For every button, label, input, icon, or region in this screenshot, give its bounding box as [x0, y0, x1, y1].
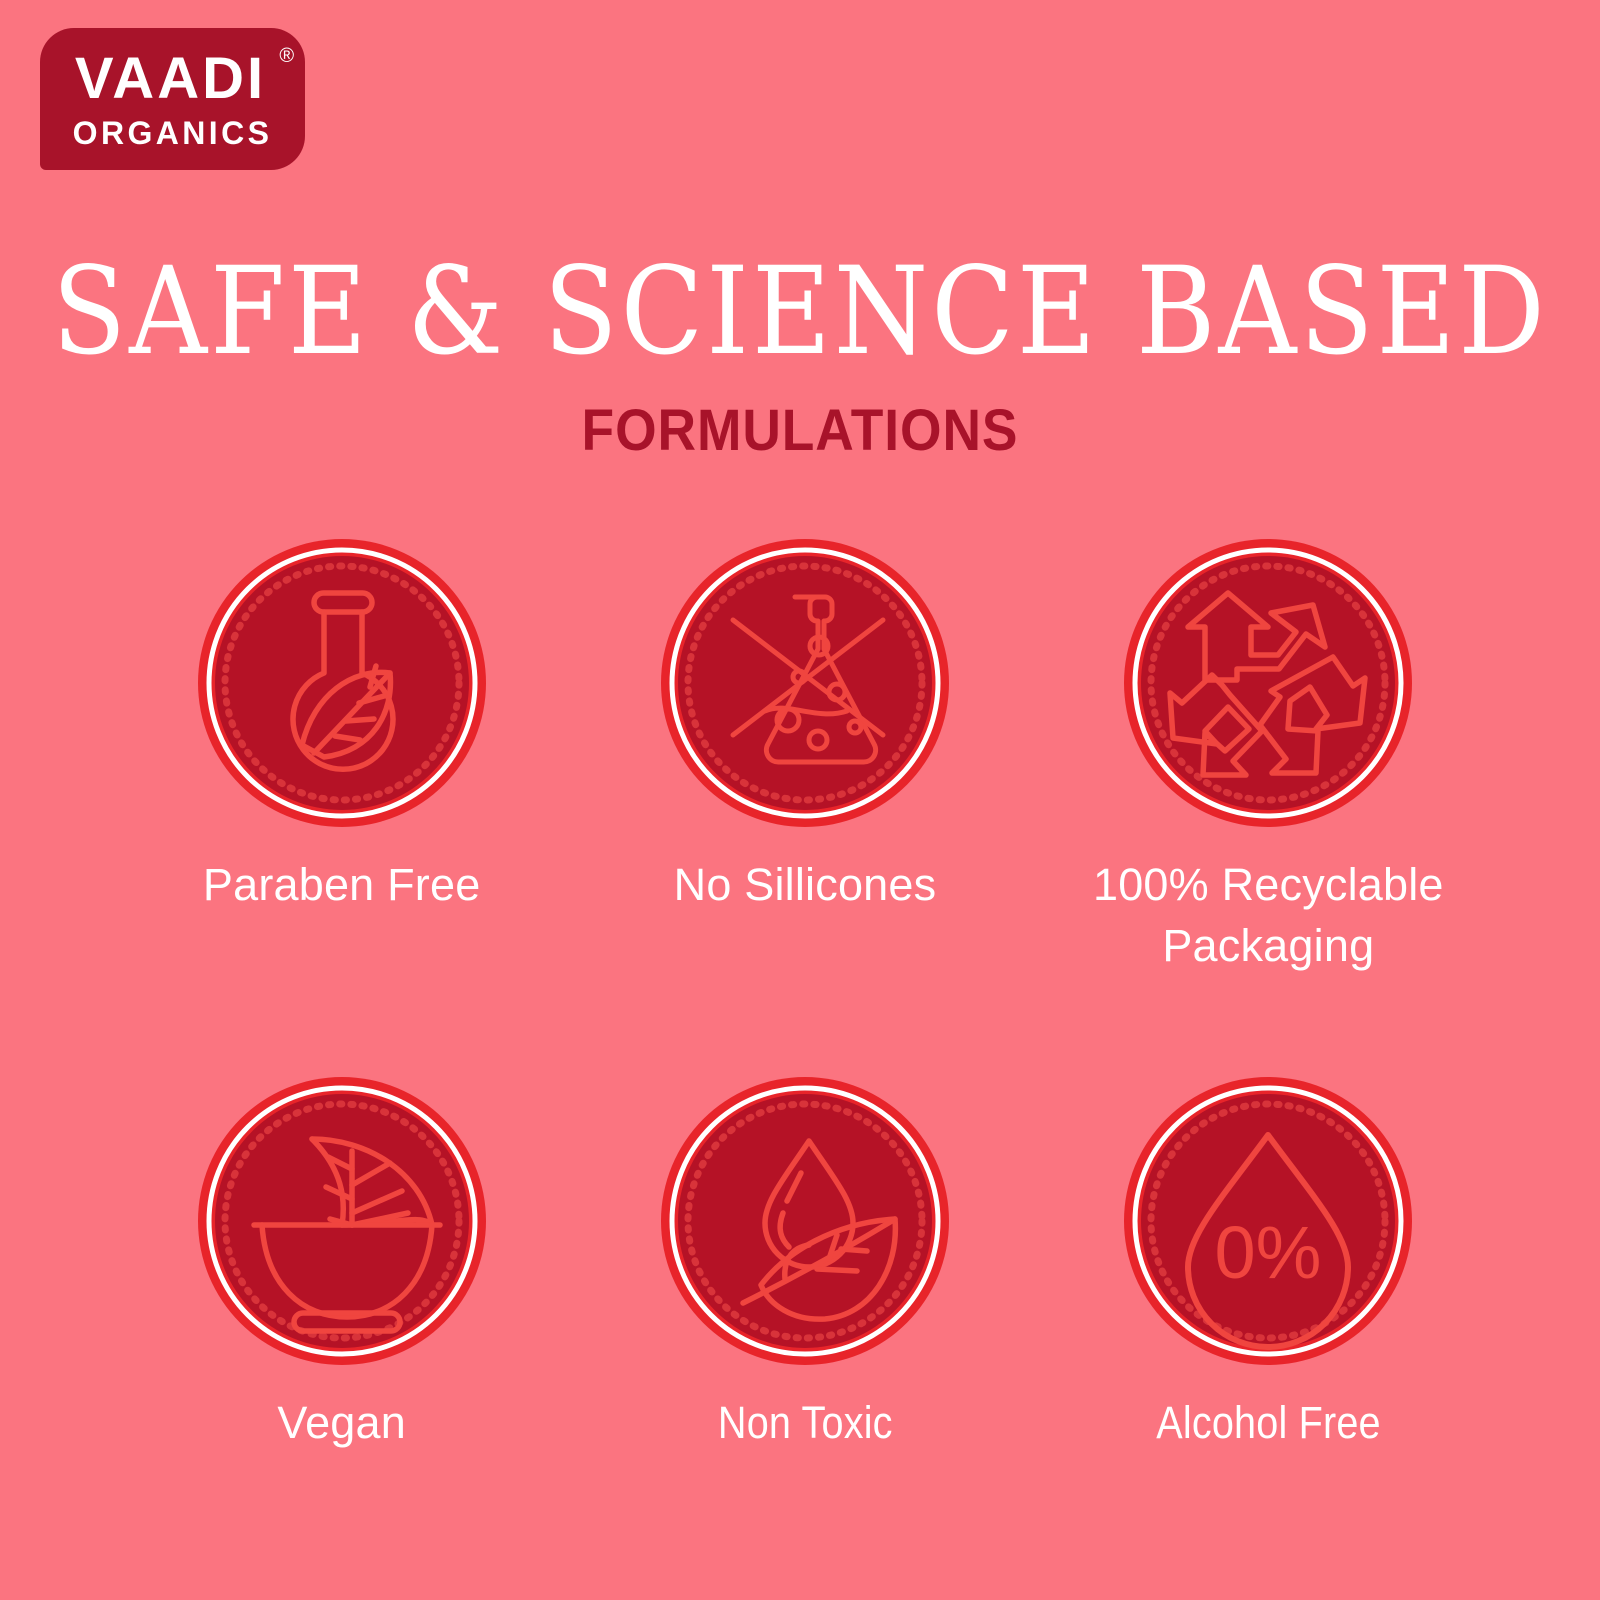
droplet-zero-percent-icon: 0% [1120, 1073, 1416, 1369]
droplet-leaf-icon [657, 1073, 953, 1369]
feature-item-no-sillicones: No Sillicones [573, 535, 1036, 977]
badge-recyclable-packaging [1120, 535, 1416, 831]
badge-label-non-toxic: Non Toxic [718, 1393, 893, 1454]
flask-crossed-out-icon [657, 535, 953, 831]
page-title: SAFE & SCIENCE BASED [0, 252, 1600, 373]
registered-trademark-icon: ® [279, 46, 294, 66]
badge-label-recyclable-packaging: 100% Recyclable Packaging [1093, 855, 1444, 977]
brand-tagline: ORGANICS [73, 117, 273, 149]
bowl-leaf-icon [194, 1073, 490, 1369]
badge-label-paraben-free: Paraben Free [203, 855, 481, 916]
brand-name-text: VAADI [75, 46, 266, 111]
droplet-percentage-text: 0% [1215, 1211, 1322, 1294]
badge-non-toxic [657, 1073, 953, 1369]
badge-paraben-free [194, 535, 490, 831]
feature-item-paraben-free: Paraben Free [110, 535, 573, 977]
badge-label-line-2: Packaging [1162, 920, 1374, 971]
feature-item-alcohol-free: 0% Alcohol Free [1037, 1073, 1500, 1454]
badge-alcohol-free: 0% [1120, 1073, 1416, 1369]
brand-logo: VAADI ® ORGANICS [40, 28, 305, 170]
recycle-icon [1120, 535, 1416, 831]
page-subtitle: FORMULATIONS [64, 402, 1536, 460]
feature-item-recyclable-packaging: 100% Recyclable Packaging [1037, 535, 1500, 977]
feature-item-non-toxic: Non Toxic [573, 1073, 1036, 1454]
feature-item-vegan: Vegan [110, 1073, 573, 1454]
badge-label-vegan: Vegan [277, 1393, 406, 1454]
brand-name: VAADI ® [75, 50, 270, 108]
flask-leaf-icon [194, 535, 490, 831]
badge-label-no-sillicones: No Sillicones [674, 855, 937, 916]
feature-badge-grid: Paraben Free [110, 535, 1500, 1453]
badge-label-alcohol-free: Alcohol Free [1156, 1393, 1380, 1454]
badge-label-line-1: 100% Recyclable [1093, 859, 1444, 910]
badge-no-sillicones [657, 535, 953, 831]
badge-vegan [194, 1073, 490, 1369]
